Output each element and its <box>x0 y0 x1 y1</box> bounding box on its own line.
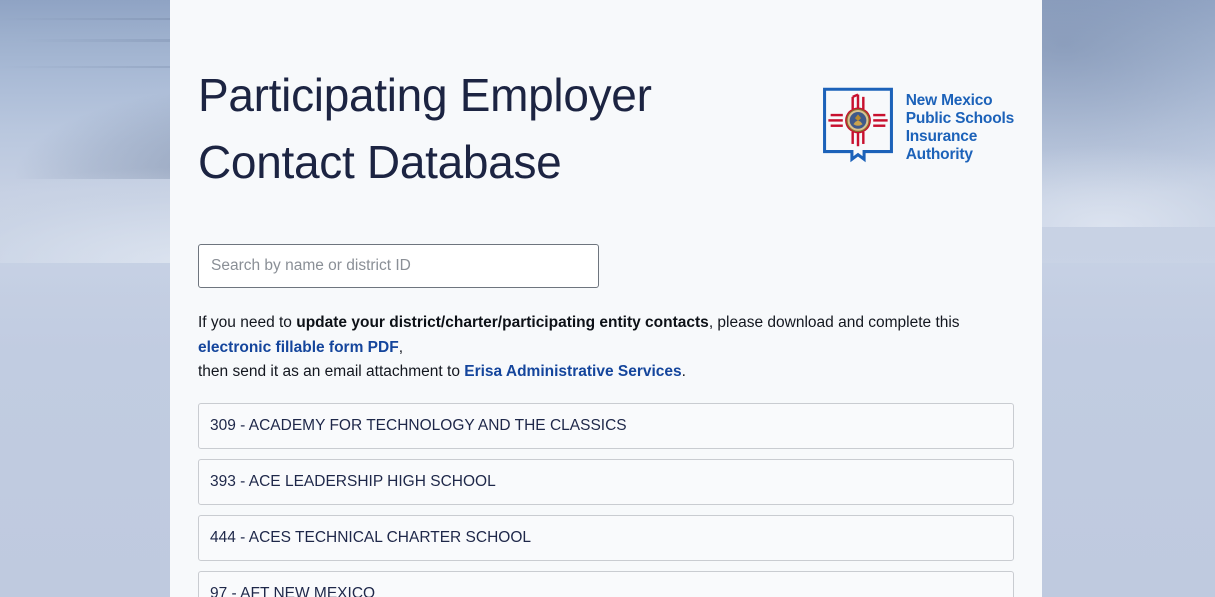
instructions-bold-phrase: update your district/charter/participati… <box>296 314 709 331</box>
logo-line-2: Public Schools <box>906 110 1014 127</box>
instructions-text-2: , please download and complete this <box>709 314 960 331</box>
entity-list-item-label: 97 - AFT NEW MEXICO <box>210 585 375 597</box>
instructions-period: . <box>682 363 686 380</box>
entity-list-item[interactable]: 444 - ACES TECHNICAL CHARTER SCHOOL <box>198 515 1014 561</box>
logo-line-4: Authority <box>906 146 973 163</box>
new-mexico-state-zia-symbol-icon <box>820 86 896 170</box>
entity-list-item-label: 309 - ACADEMY FOR TECHNOLOGY AND THE CLA… <box>210 417 627 435</box>
entity-list-item[interactable]: 309 - ACADEMY FOR TECHNOLOGY AND THE CLA… <box>198 403 1014 449</box>
erisa-administrative-services-link[interactable]: Erisa Administrative Services <box>464 363 681 380</box>
fillable-form-pdf-link[interactable]: electronic fillable form PDF <box>198 339 399 356</box>
search-section <box>198 244 1014 288</box>
page-header: Participating Employer Contact Database <box>198 0 1014 196</box>
page-title: Participating Employer Contact Database <box>198 62 783 196</box>
entity-results-list: 309 - ACADEMY FOR TECHNOLOGY AND THE CLA… <box>198 403 1014 597</box>
logo-text: New Mexico Public Schools Insurance Auth… <box>906 92 1014 164</box>
instructions-comma: , <box>399 339 403 356</box>
entity-list-item[interactable]: 97 - AFT NEW MEXICO <box>198 571 1014 597</box>
instructions-text-1: If you need to <box>198 314 296 331</box>
instructions-paragraph: If you need to update your district/char… <box>198 311 998 384</box>
entity-list-item[interactable]: 393 - ACE LEADERSHIP HIGH SCHOOL <box>198 459 1014 505</box>
search-input[interactable] <box>198 244 599 288</box>
logo-line-3: Insurance <box>906 128 977 145</box>
instructions-text-3: then send it as an email attachment to <box>198 363 464 380</box>
entity-list-item-label: 444 - ACES TECHNICAL CHARTER SCHOOL <box>210 529 531 547</box>
page-content-panel: Participating Employer Contact Database <box>170 0 1042 597</box>
nmpsia-logo: New Mexico Public Schools Insurance Auth… <box>820 86 1014 170</box>
logo-line-1: New Mexico <box>906 92 993 109</box>
entity-list-item-label: 393 - ACE LEADERSHIP HIGH SCHOOL <box>210 473 496 491</box>
